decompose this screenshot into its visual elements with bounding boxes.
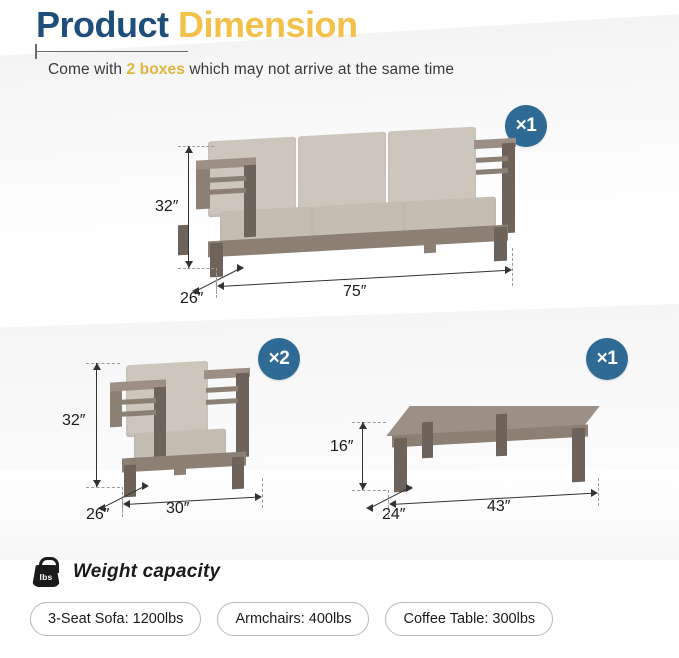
subtitle: Come with 2 boxes which may not arrive a…	[48, 61, 656, 79]
armchair-depth-arrow-end	[142, 482, 149, 490]
sofa-back-cushion-2	[298, 132, 386, 213]
armchair-height-ext-top	[86, 363, 120, 364]
armchair-width-ext-right	[262, 478, 263, 508]
coffee-table-width-arrow-left	[389, 500, 396, 508]
coffee-table-width-arrow-right	[591, 489, 598, 497]
divider-line	[36, 51, 188, 53]
coffee-table-height-line	[362, 422, 363, 490]
weight-icon: lbs	[30, 556, 62, 588]
sofa-width-arrow-right	[505, 266, 512, 274]
badge-coffee-table-quantity: ×1	[586, 338, 628, 380]
weight-icon-label: lbs	[30, 572, 62, 582]
armchair-height-label: 32″	[62, 412, 85, 430]
armchair-illustration	[108, 355, 268, 505]
coffee-table-leg-back-right	[496, 414, 507, 457]
weight-pill-sofa: 3-Seat Sofa: 1200lbs	[30, 602, 201, 636]
header: Product Dimension Come with 2 boxes whic…	[36, 6, 656, 79]
armchair-center-support	[174, 465, 186, 476]
weight-pill-coffee-table: Coffee Table: 300lbs	[385, 602, 553, 636]
armchair-width-arrow-right	[255, 493, 262, 501]
coffee-table-height-arrow-top	[359, 422, 367, 429]
subtitle-suffix: which may not arrive at the same time	[185, 61, 454, 78]
sofa-leg-front-right	[494, 227, 507, 262]
sofa-height-arrow-top	[185, 146, 193, 153]
armchair-height-ext-bottom	[86, 487, 120, 488]
sofa-width-ext-right	[512, 248, 513, 286]
armchair-leg-front-right	[232, 457, 244, 490]
armchair-right-slat-1	[206, 386, 238, 393]
armchair-width-label: 30″	[166, 500, 189, 518]
sofa-height-label: 32″	[155, 198, 178, 216]
sofa-height-arrow-bottom	[185, 261, 193, 268]
armchair-height-arrow-top	[93, 363, 101, 370]
armchair-right-slat-2	[206, 398, 238, 405]
sofa-center-support	[424, 243, 436, 254]
sofa-height-line	[188, 146, 189, 268]
sofa-illustration	[196, 125, 516, 285]
sofa-depth-arrow-end	[237, 264, 244, 272]
subtitle-prefix: Come with	[48, 61, 127, 78]
armchair-width-arrow-left	[123, 500, 130, 508]
coffee-table-height-arrow-bottom	[359, 483, 367, 490]
coffee-table-depth-arrow-end	[406, 484, 413, 492]
weight-capacity-title: Weight capacity	[73, 561, 220, 583]
sofa-height-ext-bottom	[178, 268, 214, 269]
subtitle-highlight: 2 boxes	[127, 61, 185, 78]
title-divider	[24, 44, 656, 58]
coffee-table-width-label: 43″	[487, 498, 510, 516]
sofa-width-arrow-left	[217, 282, 224, 290]
weight-capacity-section: lbs Weight capacity 3-Seat Sofa: 1200lbs…	[30, 556, 650, 636]
weight-capacity-pill-list: 3-Seat Sofa: 1200lbs Armchairs: 400lbs C…	[30, 602, 650, 636]
sofa-depth-label: 26″	[180, 290, 203, 308]
armchair-height-arrow-bottom	[93, 480, 101, 487]
coffee-table-depth-label: 24″	[382, 506, 405, 524]
weight-pill-armchairs: Armchairs: 400lbs	[217, 602, 369, 636]
coffee-table-leg-front-right	[572, 428, 585, 483]
sofa-width-label: 75″	[343, 283, 366, 301]
coffee-table-height-ext-top	[352, 422, 386, 423]
page-title: Product Dimension	[36, 6, 656, 44]
coffee-table-height-label: 16″	[330, 438, 353, 456]
coffee-table-depth-arrow-start	[366, 504, 373, 512]
weight-capacity-header: lbs Weight capacity	[30, 556, 650, 588]
armchair-depth-label: 26″	[86, 506, 109, 524]
coffee-table-height-ext-bottom	[352, 490, 386, 491]
title-part-dimension: Dimension	[178, 4, 358, 45]
coffee-table-leg-back-left	[422, 422, 433, 459]
armchair-height-line	[96, 363, 97, 487]
title-part-product: Product	[36, 4, 178, 45]
sofa-height-ext-top	[178, 146, 214, 147]
sofa-back-cushion-3	[388, 127, 476, 208]
coffee-table-width-ext-right	[598, 478, 599, 506]
